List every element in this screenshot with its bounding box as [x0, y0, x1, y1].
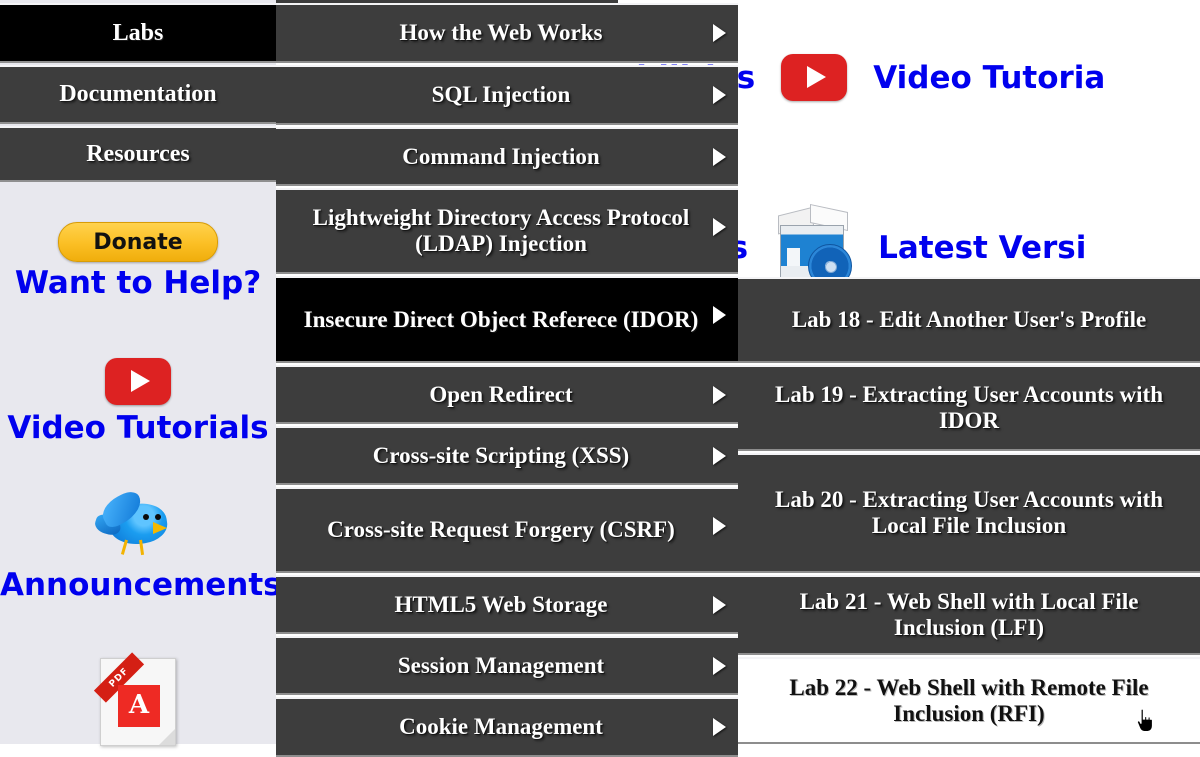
chevron-right-icon — [713, 386, 726, 404]
chevron-right-icon — [713, 447, 726, 465]
youtube-play-icon[interactable] — [105, 358, 171, 405]
labs-submenu: Lab 18 - Edit Another User's Profile Lab… — [738, 277, 1200, 744]
menu-item-sql-injection[interactable]: SQL Injection — [276, 65, 738, 125]
menu-item-label: SQL Injection — [294, 82, 708, 108]
chevron-right-icon — [713, 306, 726, 324]
menu-item-cookie-management[interactable]: Cookie Management — [276, 697, 738, 757]
menu-item-session-management[interactable]: Session Management — [276, 636, 738, 695]
announcements-link[interactable]: Announcements — [0, 570, 276, 601]
chevron-right-icon — [713, 86, 726, 104]
pdf-page-fold — [159, 729, 175, 745]
video-tutorials-link[interactable]: Video Tutorials — [0, 413, 276, 444]
menu-item-label: Command Injection — [294, 144, 708, 170]
pointer-hand-cursor — [1134, 709, 1156, 733]
submenu-item-lab-21[interactable]: Lab 21 - Web Shell with Local File Inclu… — [738, 575, 1200, 655]
chevron-right-icon — [713, 218, 726, 236]
menu-item-xss[interactable]: Cross-site Scripting (XSS) — [276, 426, 738, 485]
topics-menu: How the Web Works SQL Injection Command … — [276, 0, 738, 744]
menu-item-label: Insecure Direct Object Referece (IDOR) — [294, 307, 708, 333]
menu-item-label: Cross-site Scripting (XSS) — [294, 443, 708, 469]
menu-item-label: Session Management — [294, 653, 708, 679]
sidebar-item-label: Documentation — [59, 81, 216, 108]
submenu-item-label: Lab 18 - Edit Another User's Profile — [792, 307, 1146, 333]
chevron-right-icon — [713, 596, 726, 614]
twitter-bird-icon[interactable] — [95, 490, 181, 566]
donate-button-label: Donate — [93, 230, 182, 255]
sidebar-promo-donate: Donate Want to Help? — [0, 222, 276, 299]
submenu-item-label: Lab 22 - Web Shell with Remote File Incl… — [760, 675, 1178, 727]
menu-item-label: Lightweight Directory Access Protocol (L… — [294, 205, 708, 257]
chevron-right-icon — [713, 24, 726, 42]
chevron-right-icon — [713, 657, 726, 675]
software-box-cd-icon[interactable] — [774, 208, 852, 288]
submenu-item-lab-18[interactable]: Lab 18 - Edit Another User's Profile — [738, 277, 1200, 363]
sidebar-item-documentation[interactable]: Documentation — [0, 65, 276, 124]
menu-item-ldap-injection[interactable]: Lightweight Directory Access Protocol (L… — [276, 188, 738, 274]
bird-eye — [143, 514, 149, 520]
bg-video-tutorials-link[interactable]: Video Tutoria — [873, 60, 1105, 96]
submenu-item-lab-22[interactable]: Lab 22 - Web Shell with Remote File Incl… — [738, 657, 1200, 744]
menu-item-label: Cookie Management — [294, 714, 708, 740]
menu-item-idor[interactable]: Insecure Direct Object Referece (IDOR) — [276, 276, 738, 363]
menu-item-html5-web-storage[interactable]: HTML5 Web Storage — [276, 575, 738, 634]
submenu-item-lab-19[interactable]: Lab 19 - Extracting User Accounts with I… — [738, 365, 1200, 451]
want-to-help-link[interactable]: Want to Help? — [0, 268, 276, 299]
bird-eye — [155, 514, 161, 520]
sidebar-promo-video: Video Tutorials — [0, 358, 276, 444]
menu-item-open-redirect[interactable]: Open Redirect — [276, 365, 738, 424]
sidebar-item-labs[interactable]: Labs — [0, 3, 276, 63]
pdf-document-icon[interactable]: PDF — [100, 658, 176, 746]
chevron-right-icon — [713, 718, 726, 736]
menu-item-label: HTML5 Web Storage — [294, 592, 708, 618]
submenu-item-label: Lab 19 - Extracting User Accounts with I… — [760, 382, 1178, 434]
chevron-right-icon — [713, 517, 726, 535]
submenu-item-lab-20[interactable]: Lab 20 - Extracting User Accounts with L… — [738, 453, 1200, 573]
sidebar-item-label: Resources — [86, 141, 190, 168]
sidebar-promo-pdf: PDF — [0, 658, 276, 746]
donate-button[interactable]: Donate — [58, 222, 218, 262]
menu-item-label: Cross-site Request Forgery (CSRF) — [294, 517, 708, 543]
sidebar-item-resources[interactable]: Resources — [0, 126, 276, 182]
submenu-item-label: Lab 20 - Extracting User Accounts with L… — [760, 487, 1178, 539]
menu-item-how-the-web-works[interactable]: How the Web Works — [276, 3, 738, 63]
menu-item-csrf[interactable]: Cross-site Request Forgery (CSRF) — [276, 487, 738, 573]
bg-latest-version-link[interactable]: Latest Versi — [878, 230, 1086, 266]
menu-item-label: How the Web Works — [294, 20, 708, 46]
chevron-right-icon — [713, 148, 726, 166]
sidebar: Labs Documentation Resources Donate Want… — [0, 0, 276, 744]
menu-item-label: Open Redirect — [294, 382, 708, 408]
menu-item-command-injection[interactable]: Command Injection — [276, 127, 738, 186]
sidebar-promo-announcements: Announcements — [0, 490, 276, 601]
pdf-acrobat-glyph — [118, 685, 160, 727]
submenu-item-label: Lab 21 - Web Shell with Local File Inclu… — [760, 589, 1178, 641]
youtube-play-icon[interactable] — [781, 54, 847, 101]
bird-beak — [153, 522, 167, 534]
sidebar-item-label: Labs — [113, 20, 164, 47]
